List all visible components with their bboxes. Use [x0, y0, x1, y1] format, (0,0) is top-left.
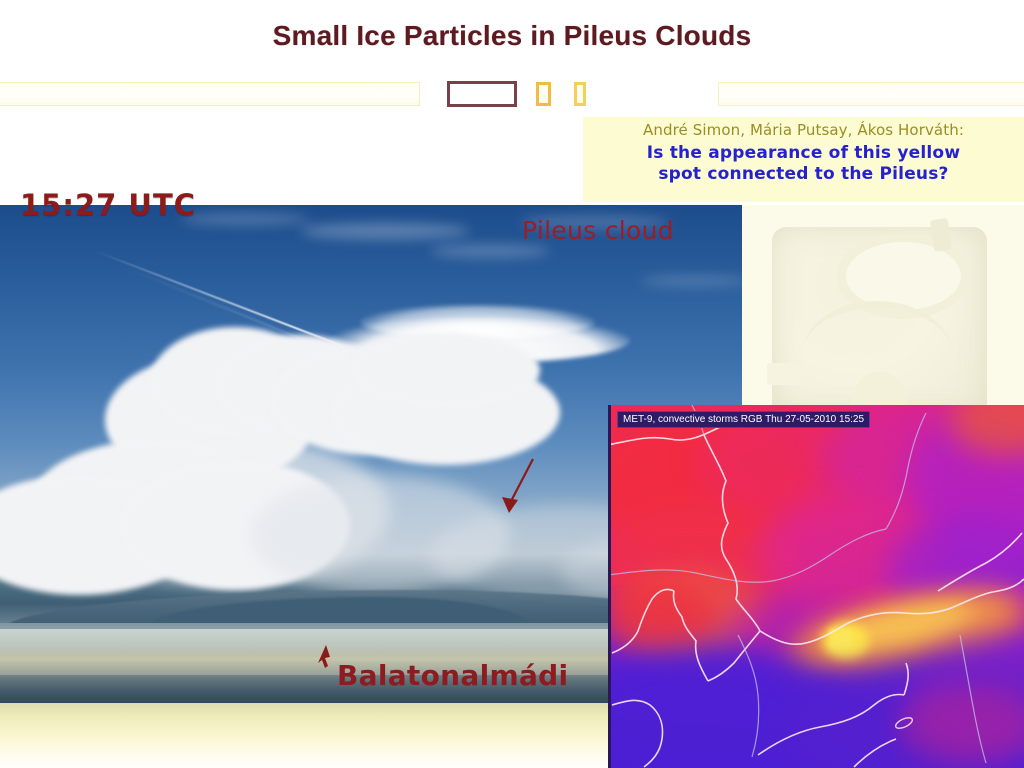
cirrus-wisp: [640, 275, 742, 287]
question-text: Is the appearance of this yellow spot co…: [583, 143, 1024, 186]
banner-bar-left: [0, 82, 420, 106]
watermark-tab-shape: [767, 363, 801, 385]
sat-coastline-overlay: [608, 405, 1024, 768]
slide-root: Small Ice Particles in Pileus Clouds And…: [0, 0, 1024, 768]
photo-timestamp: 15:27 UTC: [20, 188, 196, 222]
pileus-cloud-label: Pileus cloud: [522, 216, 674, 245]
authors-line: André Simon, Mária Putsay, Ákos Horváth:: [583, 121, 1024, 139]
balatonalmadi-arrow: [312, 643, 336, 673]
cirrus-wisp: [300, 223, 470, 239]
question-line-2: spot connected to the Pileus?: [583, 164, 1024, 185]
satellite-caption: MET-9, convective storms RGB Thu 27-05-2…: [617, 411, 870, 428]
balatonalmadi-label: Balatonalmádi: [337, 659, 568, 692]
page-title: Small Ice Particles in Pileus Clouds: [0, 20, 1024, 52]
satellite-instrument-watermark-image: [742, 205, 1024, 405]
question-panel: André Simon, Mária Putsay, Ákos Horváth:…: [583, 117, 1024, 202]
question-line-1: Is the appearance of this yellow: [583, 143, 1024, 164]
pileus-arrow-left: [497, 457, 537, 519]
banner-bar-right: [718, 82, 1024, 106]
pileus-cloud-cap-inner: [360, 305, 595, 339]
meteosat-rgb-image: MET-9, convective storms RGB Thu 27-05-2…: [608, 405, 1024, 768]
cirrus-wisp: [180, 213, 310, 225]
banner-box-small-2: [574, 82, 586, 106]
decor-banner: [0, 80, 1024, 108]
watermark-nub-shape: [930, 218, 952, 252]
cumulus-tower: [350, 333, 540, 408]
cirrus-wisp: [430, 245, 550, 257]
banner-box-small-1: [536, 82, 551, 106]
banner-box-main: [447, 81, 517, 107]
